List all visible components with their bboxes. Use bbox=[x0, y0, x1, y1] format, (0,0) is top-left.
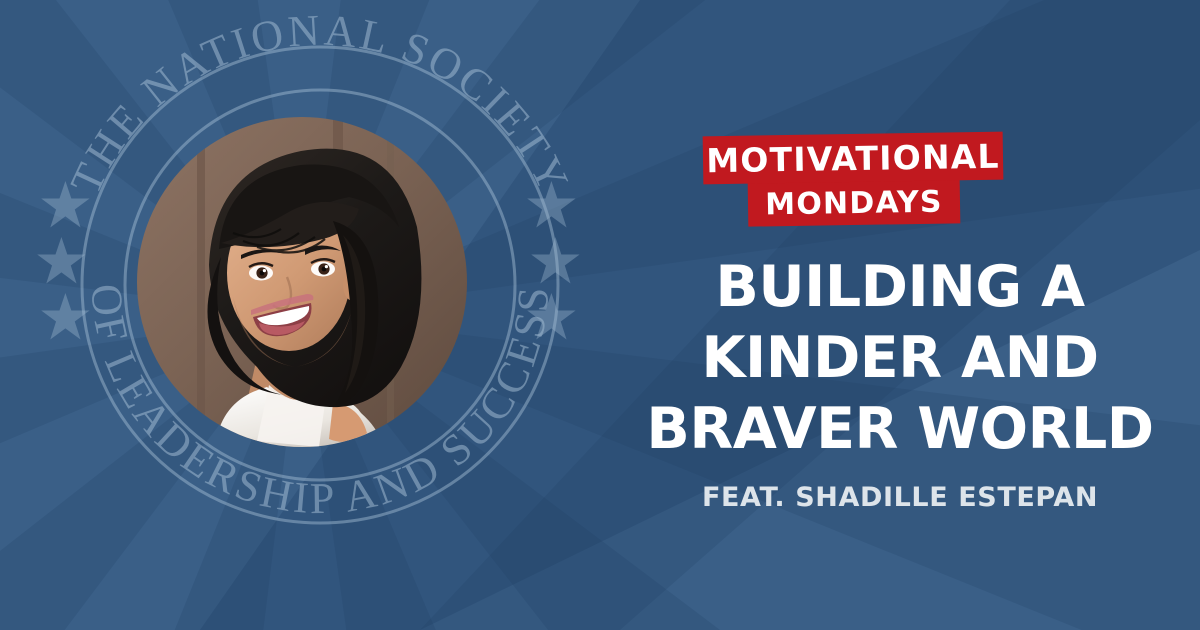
promo-graphic-canvas: THE NATIONAL SOCIETY OF LEADERSHIP AND S… bbox=[0, 0, 1200, 630]
seal-stars-left bbox=[37, 181, 89, 339]
episode-title: BUILDING A KINDER AND BRAVER WORLD bbox=[600, 252, 1200, 465]
seal-stars-right bbox=[527, 181, 579, 339]
episode-title-line-2: KINDER AND bbox=[600, 323, 1200, 394]
badge-line-motivational: MOTIVATIONAL bbox=[703, 132, 1004, 185]
speaker-portrait bbox=[137, 117, 467, 447]
featured-guest-line: FEAT. SHADILLE ESTEPAN bbox=[600, 482, 1200, 513]
episode-title-line-3: BRAVER WORLD bbox=[600, 394, 1200, 465]
content-column: MOTIVATIONAL MONDAYS BUILDING A KINDER A… bbox=[600, 0, 1200, 630]
badge-line-mondays: MONDAYS bbox=[748, 179, 961, 226]
series-badge: MOTIVATIONAL MONDAYS bbox=[600, 128, 1200, 233]
episode-title-line-1: BUILDING A bbox=[600, 252, 1200, 323]
